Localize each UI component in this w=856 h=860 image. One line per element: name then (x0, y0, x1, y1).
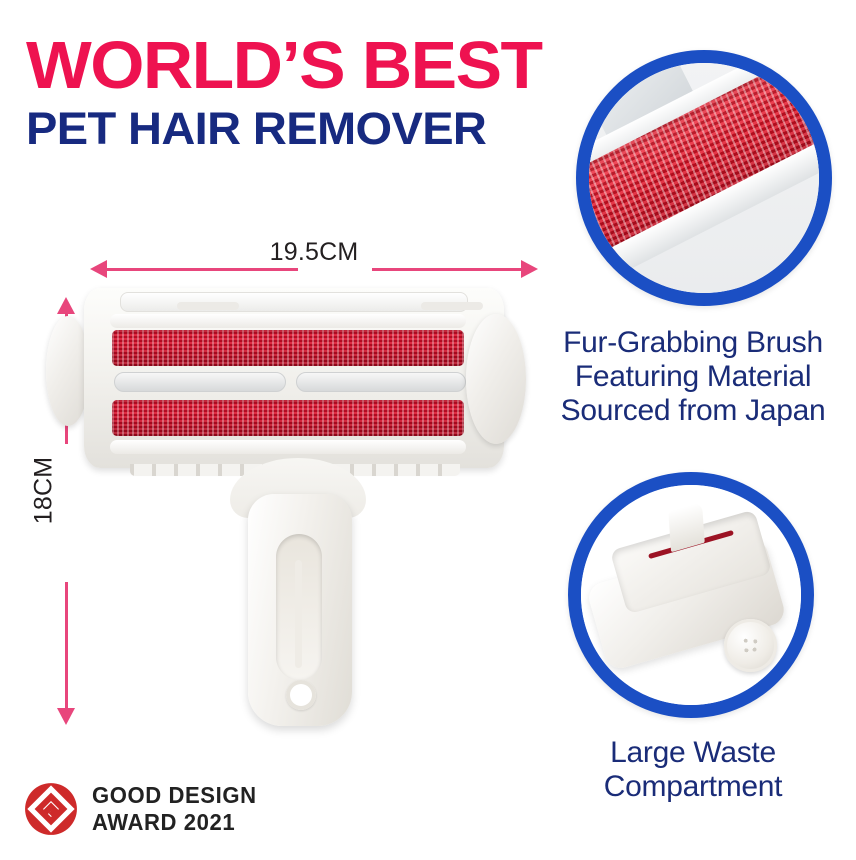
roller-grey-band (296, 372, 466, 392)
caption-brush-line-3: Sourced from Japan (530, 394, 856, 428)
brush-strip-lower (112, 400, 464, 436)
headline-line-2: PET HAIR REMOVER (26, 106, 549, 151)
width-arrow-right-icon (521, 260, 538, 278)
compartment-end-knob (724, 619, 777, 672)
width-arrow-left-icon (90, 260, 107, 278)
rail-notch (177, 302, 239, 310)
award-badge: GOOD DESIGN AWARD 2021 (24, 782, 263, 836)
width-dimension-callout: 19.5CM (88, 238, 540, 280)
award-line-2: AWARD 2021 (92, 809, 257, 836)
width-line-left (106, 268, 298, 271)
product-image (62, 282, 542, 742)
page-title: WORLD’S BEST PET HAIR REMOVER (26, 34, 526, 151)
product-handle (248, 494, 352, 726)
rail-notch (421, 302, 483, 310)
brush-closeup-photo (589, 63, 819, 293)
roller-end-cap-right (466, 314, 526, 444)
roller-white-band (110, 314, 466, 328)
good-design-g-mark-icon (24, 782, 78, 836)
handle-slot (276, 534, 322, 680)
brush-strip-upper (112, 330, 464, 366)
caption-brush-line-2: Featuring Material (530, 360, 856, 394)
award-line-1: GOOD DESIGN (92, 782, 257, 809)
inset-circle-brush (576, 50, 832, 306)
caption-waste: Large Waste Compartment (540, 736, 846, 804)
roller-white-band (110, 440, 466, 454)
width-line-right (372, 268, 522, 271)
headline-line-1: WORLD’S BEST (26, 34, 546, 98)
caption-waste-line-1: Large Waste (540, 736, 846, 770)
handle-hang-hole (286, 680, 316, 710)
roller-grey-band (114, 372, 286, 392)
caption-brush: Fur-Grabbing Brush Featuring Material So… (530, 326, 856, 429)
roller-top-rail (120, 292, 468, 312)
height-dimension-label: 18CM (30, 391, 59, 591)
roller-head (84, 288, 504, 468)
caption-brush-line-1: Fur-Grabbing Brush (530, 326, 856, 360)
caption-waste-line-2: Compartment (540, 770, 846, 804)
inset-circle-waste (568, 472, 814, 718)
award-text: GOOD DESIGN AWARD 2021 (92, 782, 257, 835)
waste-compartment-photo (581, 485, 801, 705)
width-dimension-label: 19.5CM (88, 238, 540, 267)
